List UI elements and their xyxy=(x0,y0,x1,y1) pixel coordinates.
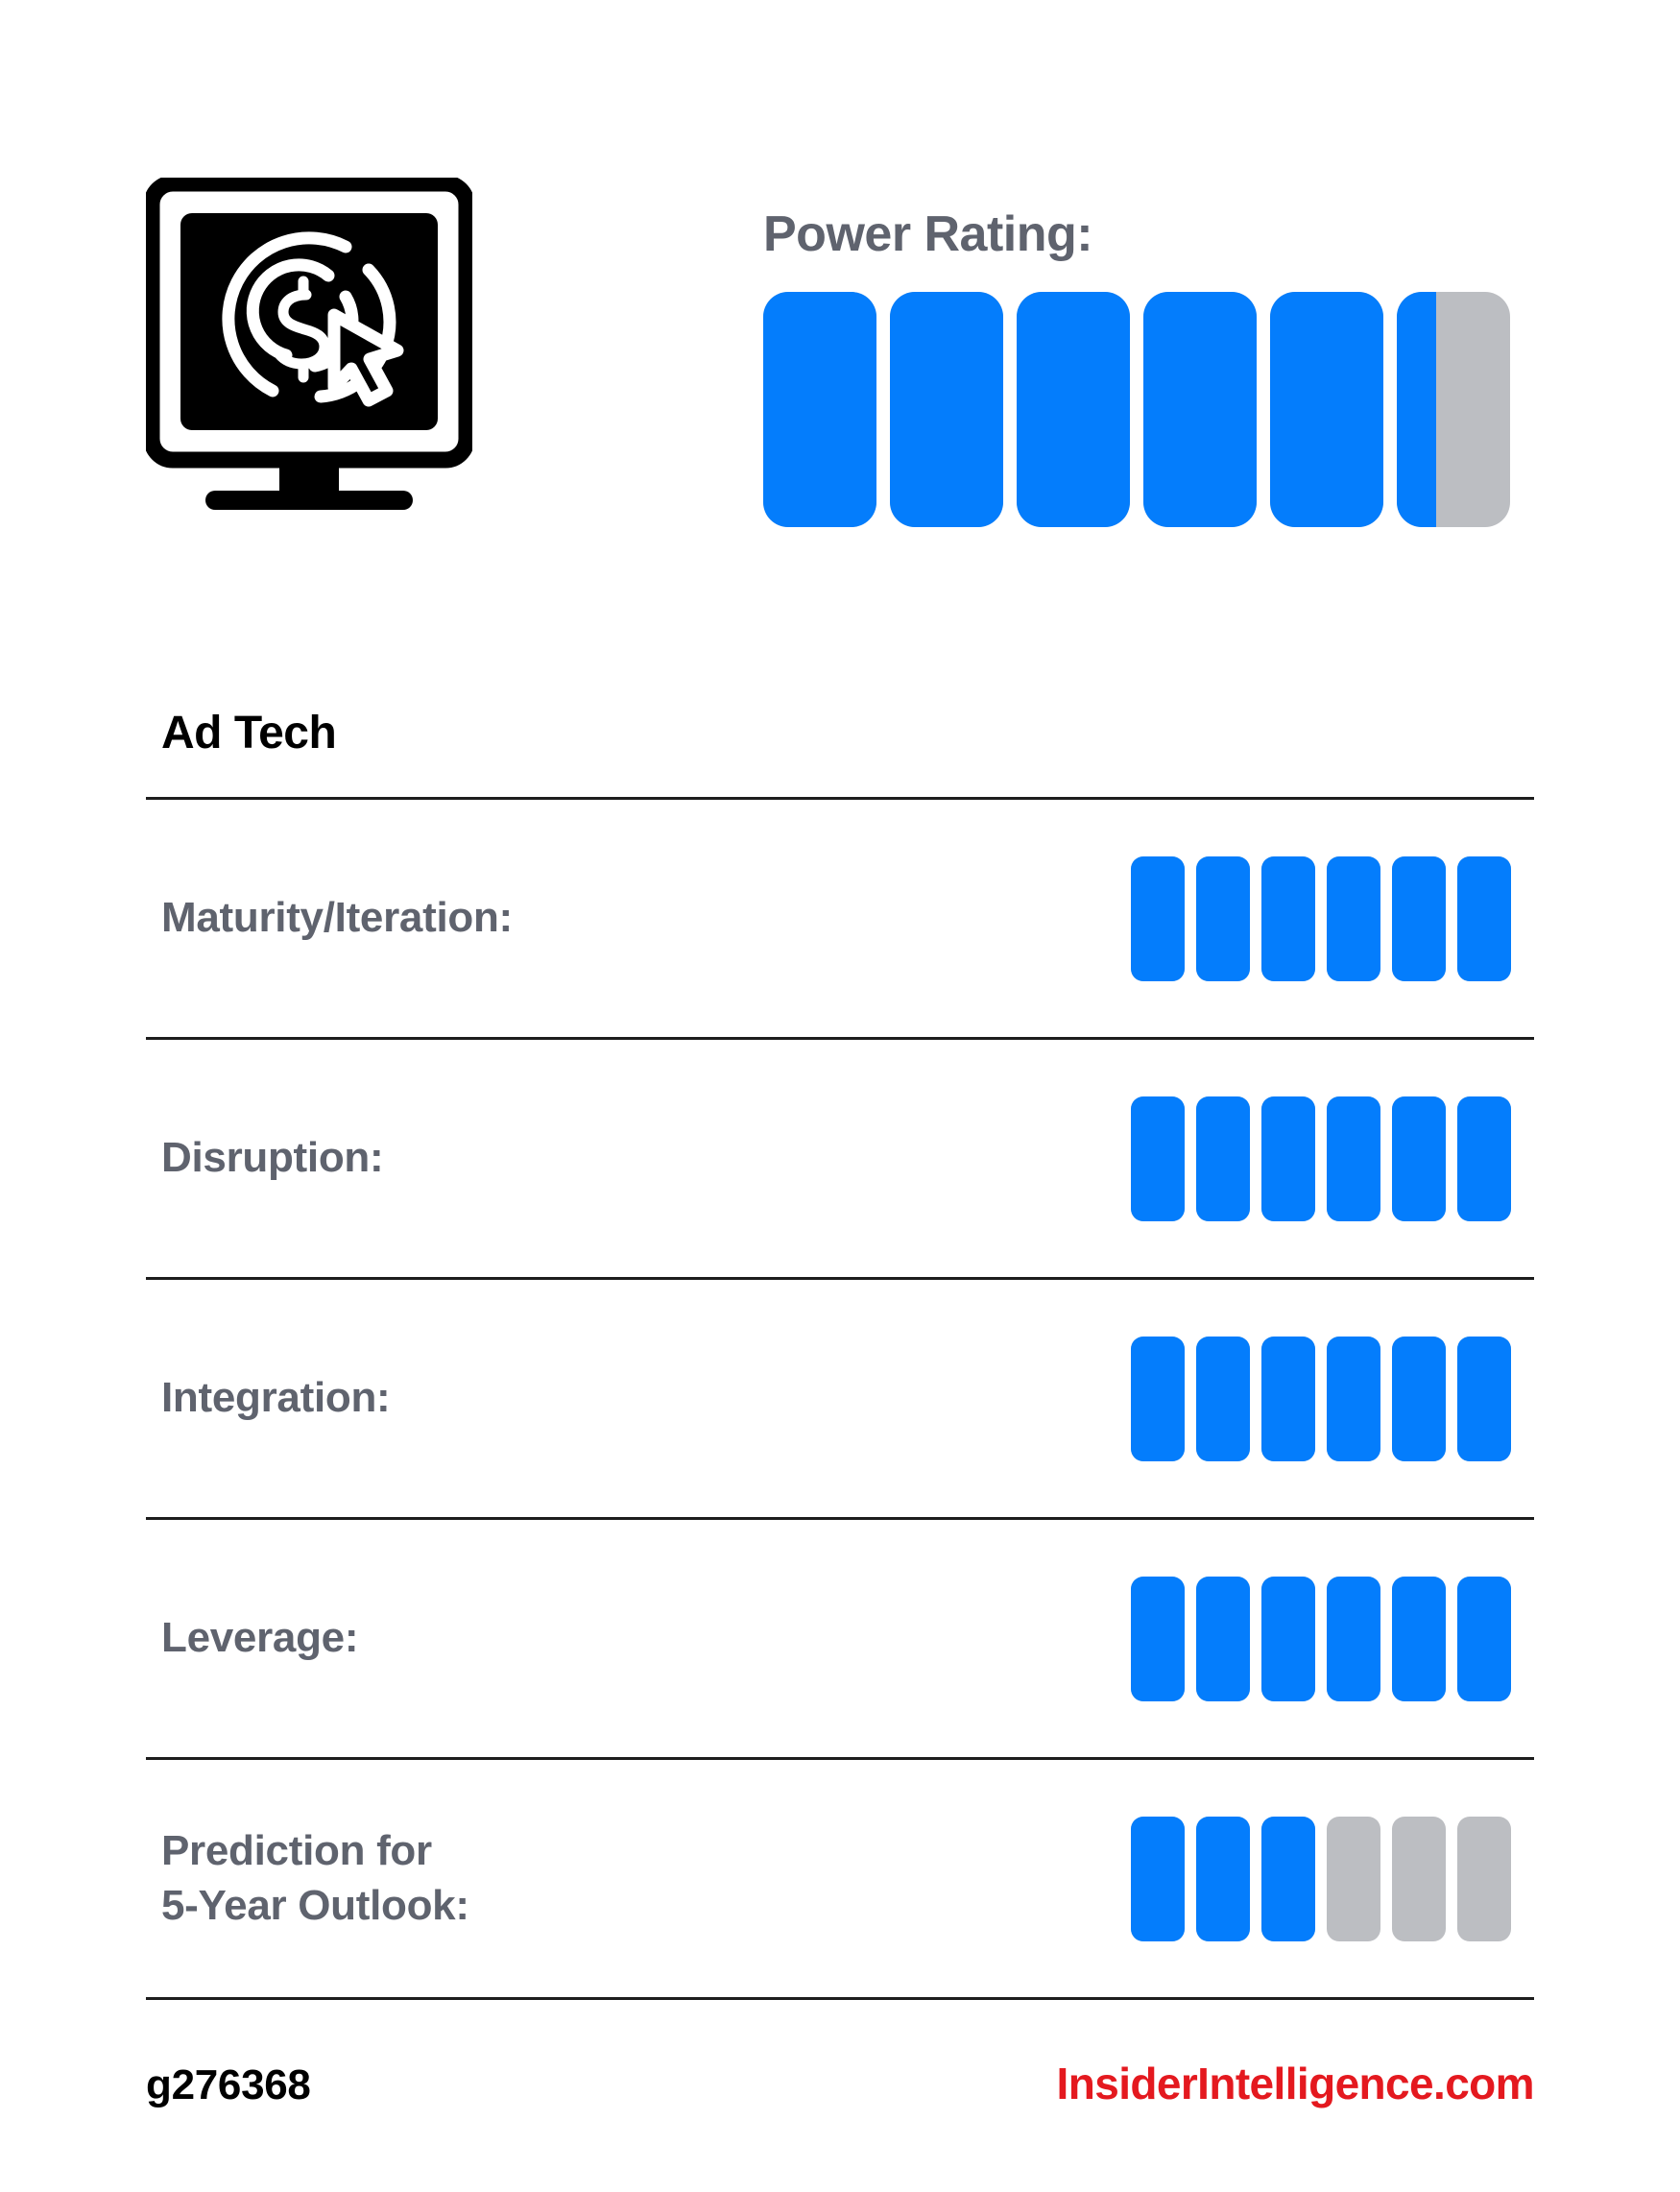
rating-bar xyxy=(1196,1337,1250,1461)
power-rating-label: Power Rating: xyxy=(763,209,1531,259)
bar-fill xyxy=(1392,856,1446,981)
bar-fill xyxy=(1261,1337,1315,1461)
bar-fill xyxy=(1196,1337,1250,1461)
rating-bar xyxy=(1392,1577,1446,1701)
rating-bar xyxy=(1196,1817,1250,1941)
bar-fill xyxy=(1392,1337,1446,1461)
bar-fill xyxy=(1327,856,1380,981)
bar-fill xyxy=(1270,292,1383,527)
rating-bar xyxy=(1457,1577,1511,1701)
bar-fill xyxy=(1017,292,1130,527)
rating-bar xyxy=(1327,856,1380,981)
bar-fill xyxy=(1392,1577,1446,1701)
table-row: Prediction for5-Year Outlook: xyxy=(146,1760,1534,1997)
power-rating-block: Power Rating: xyxy=(763,209,1531,527)
row-divider xyxy=(146,1997,1534,2000)
ad-tech-monitor-icon xyxy=(146,178,472,514)
header-section: Power Rating: xyxy=(0,0,1680,672)
row-label: Disruption: xyxy=(146,1131,1131,1185)
metrics-table: Maturity/Iteration:Disruption:Integratio… xyxy=(146,797,1534,2000)
row-rating-bars xyxy=(1131,1096,1534,1221)
rating-bar xyxy=(1457,856,1511,981)
rating-bar xyxy=(1261,1337,1315,1461)
bar-fill xyxy=(1131,1337,1185,1461)
bar-fill xyxy=(1131,1817,1185,1941)
table-row: Maturity/Iteration: xyxy=(146,800,1534,1037)
power-rating-bar xyxy=(1017,292,1130,527)
table-row: Leverage: xyxy=(146,1520,1534,1757)
power-rating-bar xyxy=(890,292,1003,527)
row-label: Leverage: xyxy=(146,1611,1131,1665)
bar-fill xyxy=(1196,856,1250,981)
row-label-line: Maturity/Iteration: xyxy=(161,891,1131,945)
rating-bar xyxy=(1131,1337,1185,1461)
bar-fill xyxy=(1131,1577,1185,1701)
row-label: Prediction for5-Year Outlook: xyxy=(146,1824,1131,1933)
rating-bar xyxy=(1392,856,1446,981)
bar-fill xyxy=(1261,1817,1315,1941)
bar-fill xyxy=(1196,1096,1250,1221)
bar-fill xyxy=(1457,1096,1511,1221)
rating-bar xyxy=(1392,1096,1446,1221)
page-title: Ad Tech xyxy=(161,711,336,757)
bar-fill xyxy=(1457,1577,1511,1701)
rating-bar xyxy=(1196,1577,1250,1701)
rating-bar xyxy=(1196,1096,1250,1221)
bar-fill xyxy=(1261,1577,1315,1701)
row-label: Integration: xyxy=(146,1371,1131,1425)
rating-bar xyxy=(1327,1096,1380,1221)
rating-bar xyxy=(1327,1337,1380,1461)
power-rating-bar xyxy=(763,292,876,527)
bar-fill xyxy=(1131,856,1185,981)
rating-bar xyxy=(1457,1817,1511,1941)
row-label-line: Leverage: xyxy=(161,1611,1131,1665)
rating-bar xyxy=(1261,1096,1315,1221)
chart-id: g276368 xyxy=(146,2061,311,2109)
power-rating-bar xyxy=(1397,292,1510,527)
rating-bar xyxy=(1131,856,1185,981)
row-label-line: Prediction for xyxy=(161,1824,1131,1878)
infographic-page: Power Rating: Ad Tech Maturity/Iteration… xyxy=(0,0,1680,2192)
power-rating-bar xyxy=(1270,292,1383,527)
row-label-line: Integration: xyxy=(161,1371,1131,1425)
power-rating-bars xyxy=(763,292,1531,527)
bar-fill xyxy=(1397,292,1436,527)
rating-bar xyxy=(1327,1577,1380,1701)
footer: g276368 InsiderIntelligence.com xyxy=(146,2058,1534,2109)
row-label-line: 5-Year Outlook: xyxy=(161,1879,1131,1933)
bar-fill xyxy=(1327,1337,1380,1461)
row-rating-bars xyxy=(1131,1817,1534,1941)
rating-bar xyxy=(1196,856,1250,981)
bar-fill xyxy=(1327,1096,1380,1221)
row-rating-bars xyxy=(1131,856,1534,981)
bar-fill xyxy=(1261,856,1315,981)
bar-fill xyxy=(1392,1096,1446,1221)
row-label: Maturity/Iteration: xyxy=(146,891,1131,945)
brand-logo-text[interactable]: InsiderIntelligence.com xyxy=(1057,2058,1534,2109)
rating-bar xyxy=(1261,1817,1315,1941)
rating-bar xyxy=(1392,1817,1446,1941)
row-label-line: Disruption: xyxy=(161,1131,1131,1185)
rating-bar xyxy=(1457,1096,1511,1221)
bar-fill xyxy=(1457,856,1511,981)
bar-fill xyxy=(1327,1577,1380,1701)
rating-bar xyxy=(1457,1337,1511,1461)
power-rating-bar xyxy=(1143,292,1257,527)
rating-bar xyxy=(1131,1817,1185,1941)
rating-bar xyxy=(1261,856,1315,981)
row-rating-bars xyxy=(1131,1337,1534,1461)
table-row: Integration: xyxy=(146,1280,1534,1517)
bar-fill xyxy=(1196,1577,1250,1701)
bar-fill xyxy=(1131,1096,1185,1221)
bar-fill xyxy=(1196,1817,1250,1941)
row-rating-bars xyxy=(1131,1577,1534,1701)
rating-bar xyxy=(1392,1337,1446,1461)
bar-fill xyxy=(763,292,876,527)
table-row: Disruption: xyxy=(146,1040,1534,1277)
rating-bar xyxy=(1261,1577,1315,1701)
bar-fill xyxy=(890,292,1003,527)
bar-fill xyxy=(1457,1337,1511,1461)
rating-bar xyxy=(1327,1817,1380,1941)
rating-bar xyxy=(1131,1096,1185,1221)
rating-bar xyxy=(1131,1577,1185,1701)
bar-fill xyxy=(1143,292,1257,527)
bar-fill xyxy=(1261,1096,1315,1221)
